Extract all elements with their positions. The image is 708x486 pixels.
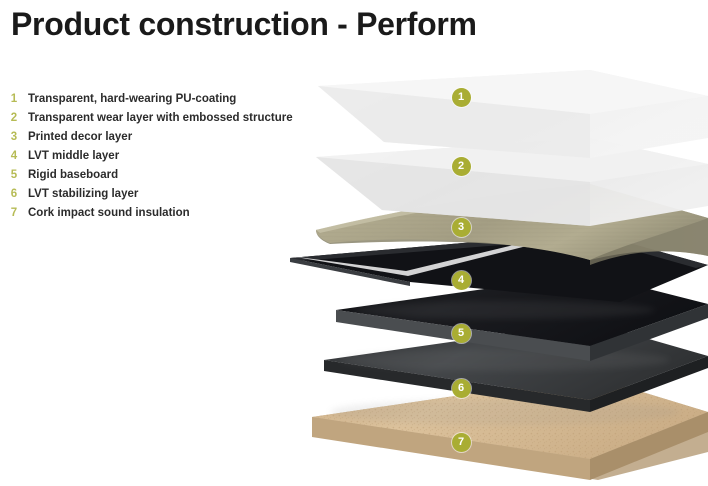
product-construction-infographic: Product construction - Perform 1 Transpa… <box>0 0 708 486</box>
layer-badge-5[interactable]: 5 <box>452 324 471 343</box>
list-item: 5 Rigid baseboard <box>0 166 330 185</box>
page-title: Product construction - Perform <box>11 4 477 44</box>
legend-label: Rigid baseboard <box>28 166 118 185</box>
legend-number: 5 <box>8 166 20 185</box>
layer-badge-6[interactable]: 6 <box>452 379 471 398</box>
layer-badge-4[interactable]: 4 <box>452 271 471 290</box>
layer-legend-list: 1 Transparent, hard-wearing PU-coating 2… <box>0 90 330 223</box>
legend-label: Transparent, hard-wearing PU-coating <box>28 90 236 109</box>
layer-badge-3[interactable]: 3 <box>452 218 471 237</box>
legend-label: Transparent wear layer with embossed str… <box>28 109 293 128</box>
legend-number: 3 <box>8 128 20 147</box>
legend-label: LVT stabilizing layer <box>28 185 138 204</box>
list-item: 1 Transparent, hard-wearing PU-coating <box>0 90 330 109</box>
list-item: 2 Transparent wear layer with embossed s… <box>0 109 330 128</box>
legend-number: 4 <box>8 147 20 166</box>
list-item: 3 Printed decor layer <box>0 128 330 147</box>
legend-number: 2 <box>8 109 20 128</box>
exploded-layer-diagram: 1 2 3 4 5 6 7 <box>290 60 708 486</box>
layer-badge-2[interactable]: 2 <box>452 157 471 176</box>
layer-stack-illustration <box>290 60 708 486</box>
list-item: 4 LVT middle layer <box>0 147 330 166</box>
layer-badge-7[interactable]: 7 <box>452 433 471 452</box>
legend-label: Cork impact sound insulation <box>28 204 190 223</box>
layer-badge-1[interactable]: 1 <box>452 88 471 107</box>
legend-number: 1 <box>8 90 20 109</box>
legend-number: 6 <box>8 185 20 204</box>
legend-number: 7 <box>8 204 20 223</box>
legend-label: LVT middle layer <box>28 147 119 166</box>
list-item: 6 LVT stabilizing layer <box>0 185 330 204</box>
list-item: 7 Cork impact sound insulation <box>0 204 330 223</box>
legend-label: Printed decor layer <box>28 128 132 147</box>
pu-coating-layer <box>318 70 708 158</box>
